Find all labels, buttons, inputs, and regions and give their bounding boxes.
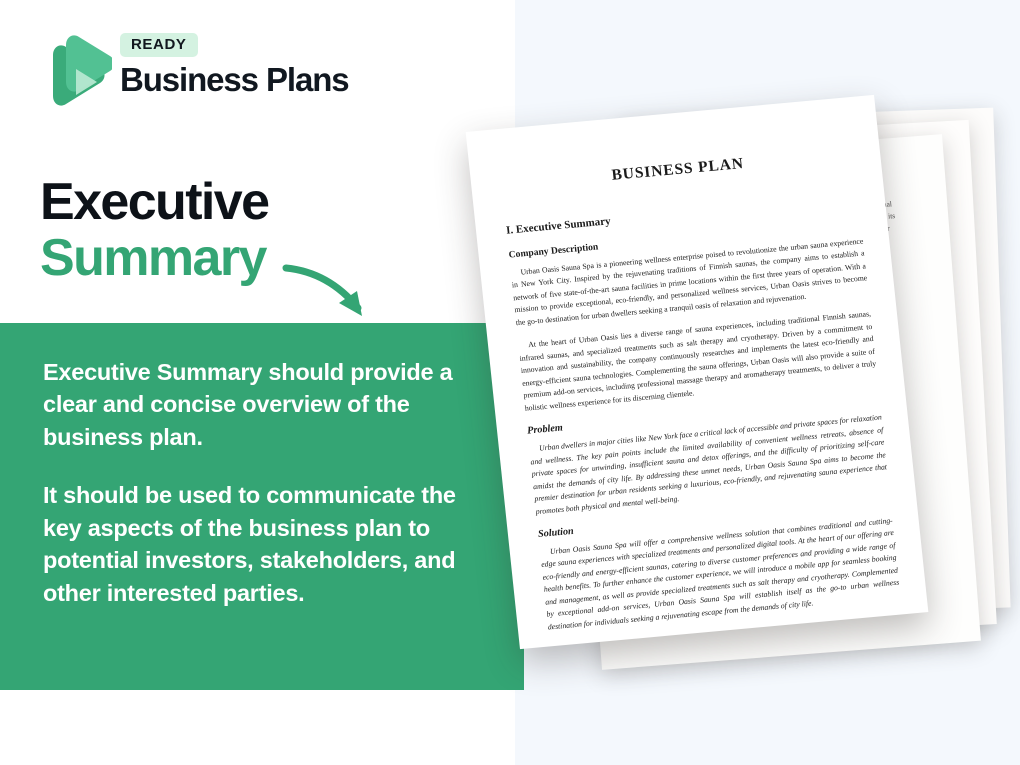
green-content-panel: Executive Summary should provide a clear… xyxy=(0,323,524,690)
play-triangle-logo-icon xyxy=(40,33,112,113)
document-page-content: BUSINESS PLAN I. Executive Summary Compa… xyxy=(498,121,901,636)
panel-paragraph-2: It should be used to communicate the key… xyxy=(43,479,495,609)
document-page-front[interactable]: BUSINESS PLAN I. Executive Summary Compa… xyxy=(466,95,929,649)
page-title-line-1: Executive xyxy=(40,175,480,231)
brand-logo-block[interactable]: READY Business Plans xyxy=(40,33,380,118)
brand-name: Business Plans xyxy=(120,63,380,98)
document-stack[interactable]: nish n by a ents sauna ns and onal or it… xyxy=(470,90,1020,660)
document-title: BUSINESS PLAN xyxy=(501,145,855,195)
green-panel-text: Executive Summary should provide a clear… xyxy=(43,356,495,609)
slide-canvas: READY Business Plans Executive Summary E… xyxy=(0,0,1020,765)
ready-badge: READY xyxy=(120,33,198,57)
page-title-line-2: Summary xyxy=(40,231,480,287)
page-title: Executive Summary xyxy=(40,175,480,286)
panel-paragraph-1: Executive Summary should provide a clear… xyxy=(43,356,495,453)
brand-text: READY Business Plans xyxy=(120,33,380,97)
